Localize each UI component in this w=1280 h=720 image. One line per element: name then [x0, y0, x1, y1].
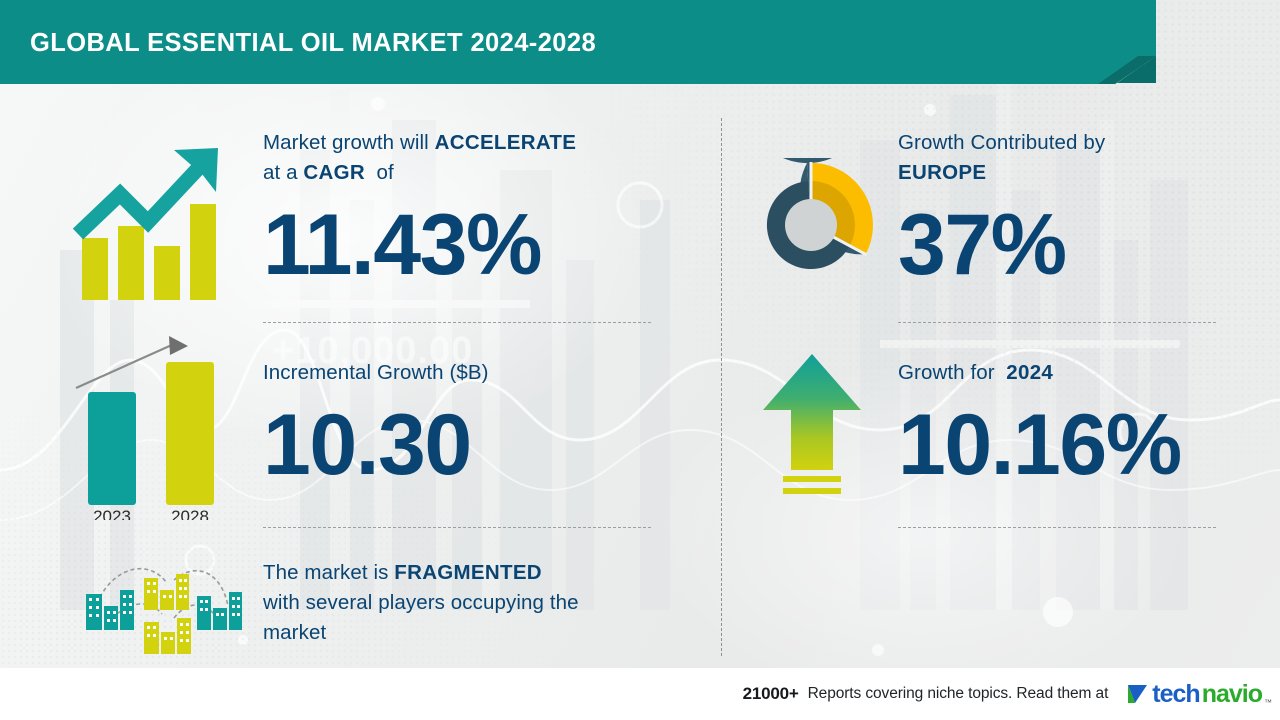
bar-label-2023: 2023	[93, 507, 131, 520]
fragmentation-block: The market is FRAGMENTEDwith several pla…	[263, 558, 693, 648]
up-arrow-gradient-icon	[757, 348, 867, 513]
bar-label-2028: 2028	[171, 507, 209, 520]
incremental-growth-block: Incremental Growth ($B) 10.30	[263, 358, 683, 488]
city-cluster-network-icon	[70, 552, 250, 662]
footer-caption: Reports covering niche topics. Read them…	[808, 685, 1109, 703]
footer-bar: 21000+ Reports covering niche topics. Re…	[0, 668, 1280, 720]
report-count: 21000+	[743, 684, 799, 704]
logo-text-tech: tech	[1152, 682, 1199, 707]
region-contribution-block: Growth Contributed byEUROPE 37%	[898, 128, 1228, 288]
right-divider-1	[898, 322, 1216, 323]
region-contribution-value: 37%	[898, 202, 1228, 288]
header-bar: GLOBAL ESSENTIAL OIL MARKET 2024-2028	[0, 0, 1280, 84]
yearly-growth-block: Growth for 2024 10.16%	[898, 358, 1238, 488]
technavio-arrow-icon	[1127, 681, 1149, 705]
left-divider-1	[263, 322, 651, 323]
donut-chart-icon	[744, 158, 878, 292]
incremental-growth-value: 10.30	[263, 402, 683, 488]
footer-content: 21000+ Reports covering niche topics. Re…	[743, 668, 1272, 720]
yearly-growth-lead-text: Growth for 2024	[898, 358, 1238, 388]
infographic-canvas: +10,000.00 GLOBAL ESSENTIAL OIL MARKET 2…	[0, 0, 1280, 720]
cagr-lead-text: Market growth will ACCELERATEat a CAGR o…	[263, 128, 683, 188]
footer-corner-shape	[0, 668, 700, 720]
growth-bar-arrow-icon	[70, 138, 240, 303]
left-divider-2	[263, 527, 651, 528]
two-bar-comparison-icon: 2023 2028	[66, 330, 246, 520]
cagr-value: 11.43%	[263, 202, 683, 288]
right-divider-2	[898, 527, 1216, 528]
cagr-block: Market growth will ACCELERATEat a CAGR o…	[263, 128, 683, 288]
logo-text-navio: navio	[1202, 682, 1262, 707]
region-contribution-lead-text: Growth Contributed byEUROPE	[898, 128, 1228, 188]
incremental-growth-lead-text: Incremental Growth ($B)	[263, 358, 683, 388]
column-divider	[721, 118, 722, 656]
trademark-symbol: ™	[1264, 698, 1272, 707]
yearly-growth-value: 10.16%	[898, 402, 1238, 488]
technavio-logo[interactable]: tech navio ™	[1127, 681, 1272, 707]
fragmentation-lead-text: The market is FRAGMENTEDwith several pla…	[263, 558, 693, 648]
page-title: GLOBAL ESSENTIAL OIL MARKET 2024-2028	[30, 29, 596, 58]
